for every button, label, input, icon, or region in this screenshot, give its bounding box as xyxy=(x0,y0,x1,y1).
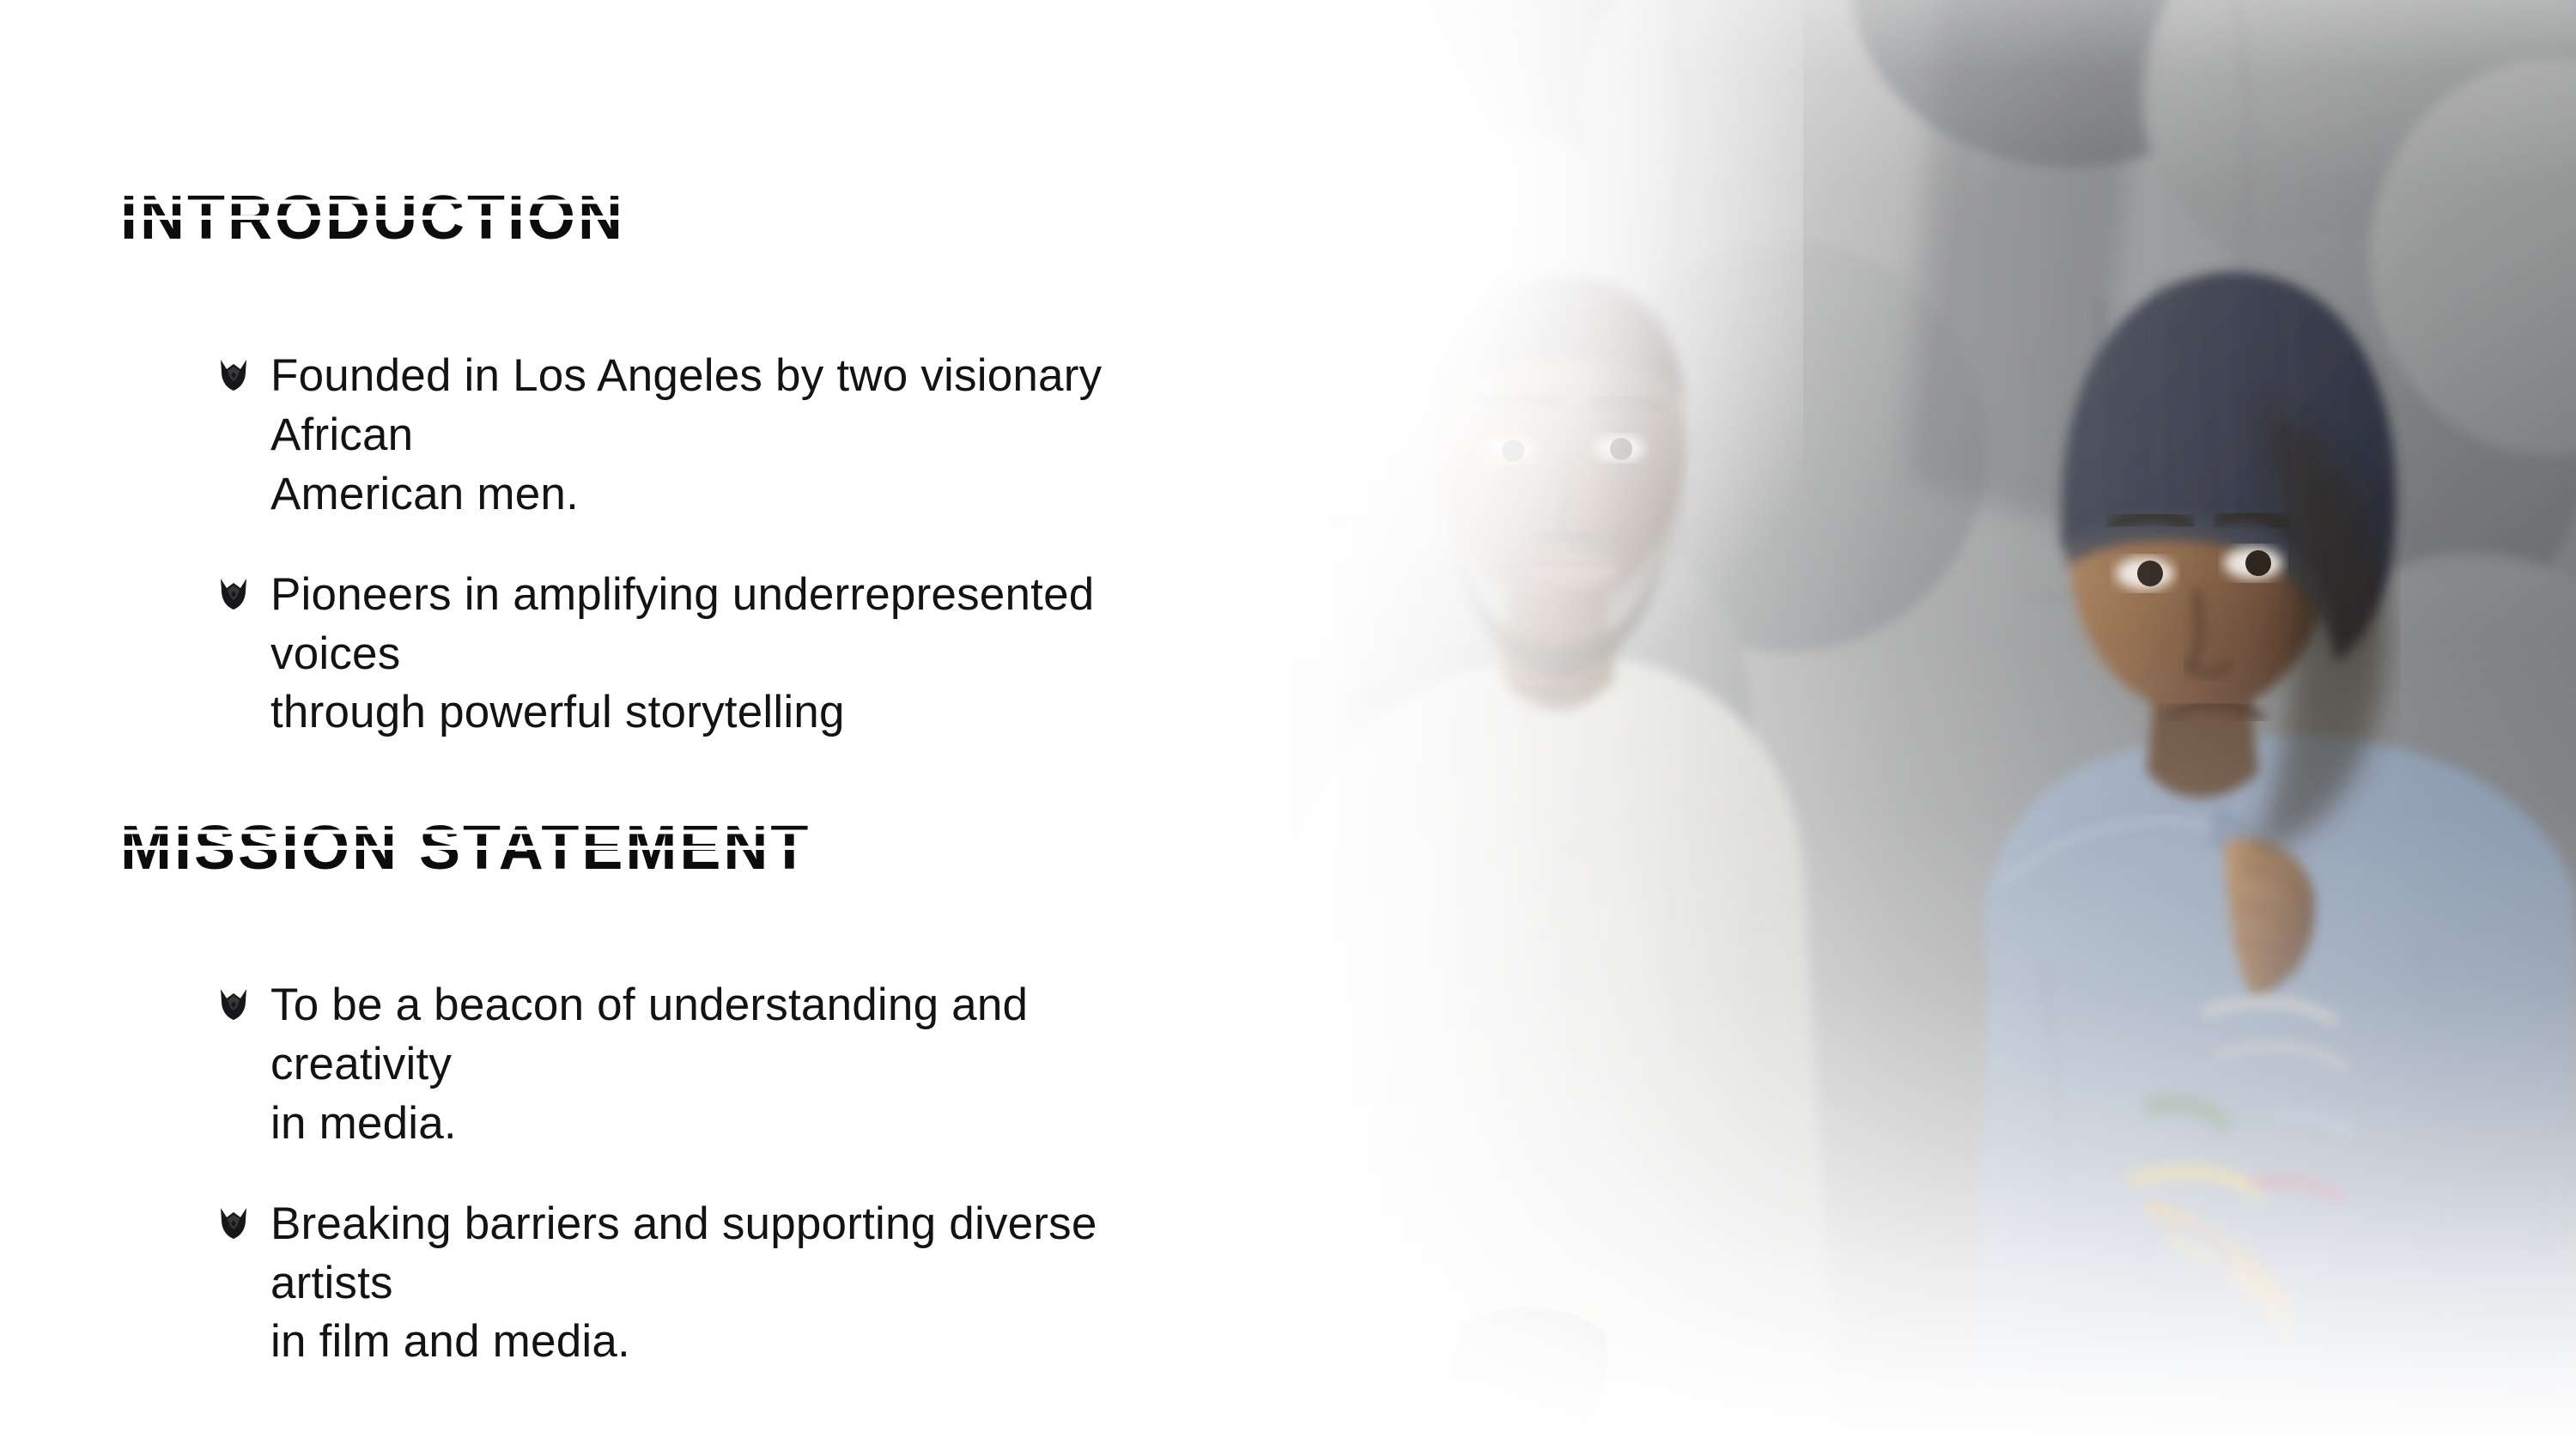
shield-bullet-icon xyxy=(219,1205,248,1240)
list-item: To be a beacon of understanding and crea… xyxy=(219,976,1206,1154)
list-item: Pioneers in amplifying underrepresented … xyxy=(219,566,1206,743)
shield-bullet-icon xyxy=(219,986,248,1021)
bullet-list-introduction: Founded in Los Angeles by two visionary … xyxy=(219,347,1206,743)
list-item-text: Pioneers in amplifying underrepresented … xyxy=(270,566,1206,743)
shield-bullet-icon xyxy=(219,576,248,610)
slide-content: INTRODUCTION Founded in Los Angeles by t… xyxy=(0,0,1563,1450)
section-heading-introduction: INTRODUCTION xyxy=(120,187,625,249)
presentation-slide: INTRODUCTION Founded in Los Angeles by t… xyxy=(0,0,2576,1450)
list-item: Breaking barriers and supporting diverse… xyxy=(219,1195,1206,1373)
bullet-list-mission: To be a beacon of understanding and crea… xyxy=(219,976,1206,1372)
shield-bullet-icon xyxy=(219,357,248,391)
list-item-text: To be a beacon of understanding and crea… xyxy=(270,976,1206,1154)
section-heading-mission: MISSION STATEMENT xyxy=(120,817,811,879)
list-item-text: Breaking barriers and supporting diverse… xyxy=(270,1195,1206,1373)
list-item: Founded in Los Angeles by two visionary … xyxy=(219,347,1206,525)
list-item-text: Founded in Los Angeles by two visionary … xyxy=(270,347,1206,525)
